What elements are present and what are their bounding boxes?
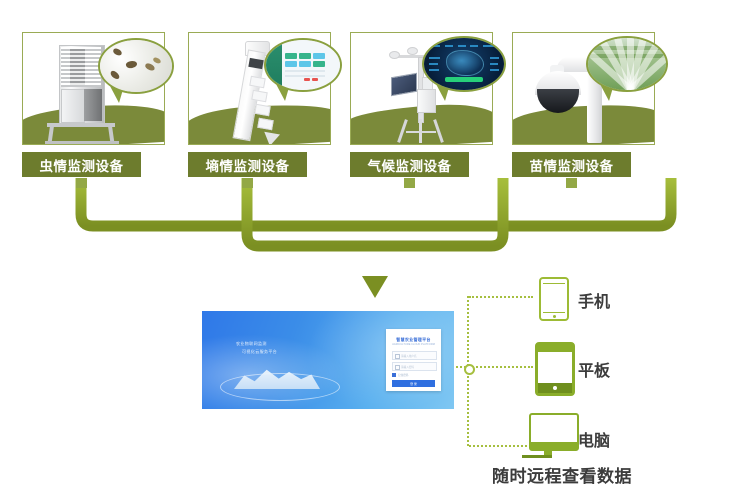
desktop-monitor-icon[interactable]: [529, 413, 579, 451]
user-icon: [395, 354, 400, 359]
dotted-line-to-computer: [469, 445, 527, 447]
label-tick-insect: [76, 178, 87, 188]
bubble-weather-dashboard: [422, 36, 506, 92]
bubble-insect-closeup: [98, 38, 174, 94]
platform-screenshot[interactable]: 农业物联网监测 可视化云服务平台 智慧农业管理平台 AGRICULTURE CL…: [202, 311, 454, 409]
bottom-caption: 随时远程查看数据: [492, 462, 632, 487]
label-tick-soil: [242, 178, 253, 188]
client-label-computer: 电脑: [578, 427, 610, 451]
dotted-line-to-tablet: [469, 366, 533, 368]
client-label-tablet: 平板: [578, 357, 610, 381]
bubble-soil-dashboard: [264, 38, 342, 92]
tablet-icon[interactable]: [535, 342, 575, 396]
client-label-phone: 手机: [578, 288, 610, 312]
label-tick-weather: [404, 178, 415, 188]
login-card[interactable]: 智慧农业管理平台 AGRICULTURE CLOUD PLATFORM 请输入用…: [386, 329, 441, 391]
platform-hero-line1: 农业物联网监测: [236, 341, 267, 347]
login-button[interactable]: 登 录: [392, 380, 435, 387]
login-subtitle: AGRICULTURE CLOUD PLATFORM: [386, 343, 441, 346]
dotted-junction-node: [464, 364, 475, 375]
card-hill-shape: [512, 101, 655, 145]
password-field[interactable]: 请输入密码: [392, 362, 437, 371]
monitor-stand-base: [522, 455, 552, 458]
platform-hero-line2: 可视化云服务平台: [242, 349, 277, 355]
diagram-canvas: 虫情监测设备 墒情监测设备: [0, 0, 750, 500]
bubble-greenhouse-view: [586, 36, 668, 92]
password-placeholder: 请输入密码: [401, 365, 414, 369]
username-placeholder: 请输入用户名: [401, 354, 417, 358]
label-tick-crop: [566, 178, 577, 188]
device-label-weather: 气候监测设备: [350, 152, 469, 177]
username-field[interactable]: 请输入用户名: [392, 351, 437, 360]
lock-icon: [395, 365, 400, 370]
data-flow-connector: [0, 178, 750, 303]
remember-checkbox[interactable]: [392, 373, 396, 377]
remember-label: 记住密码: [398, 373, 408, 377]
device-label-soil: 墒情监测设备: [188, 152, 307, 177]
device-label-insect: 虫情监测设备: [22, 152, 141, 177]
monitor-stand-neck: [544, 447, 552, 455]
device-label-crop: 苗情监测设备: [512, 152, 631, 177]
mobile-phone-icon[interactable]: [539, 277, 569, 321]
